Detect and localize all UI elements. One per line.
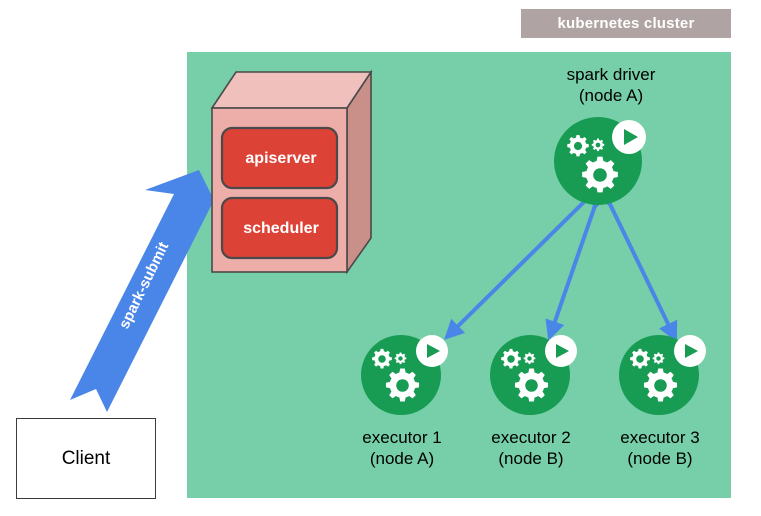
driver-play-icon xyxy=(612,120,646,154)
cube-top-face xyxy=(212,72,371,108)
diagram-canvas: kubernetes cluster apiserver scheduler s… xyxy=(0,0,761,516)
client-box[interactable]: Client xyxy=(16,418,156,499)
executor-2-play-icon xyxy=(545,335,577,367)
scheduler-label: scheduler xyxy=(225,220,337,238)
executor-3-play-icon xyxy=(674,335,706,367)
executor-1-play-icon xyxy=(416,335,448,367)
apiserver-label: apiserver xyxy=(225,150,337,168)
cluster-badge-label: kubernetes cluster xyxy=(558,15,695,32)
cluster-badge: kubernetes cluster xyxy=(521,9,731,38)
client-label: Client xyxy=(62,448,111,470)
control-plane-cube[interactable] xyxy=(212,72,371,272)
